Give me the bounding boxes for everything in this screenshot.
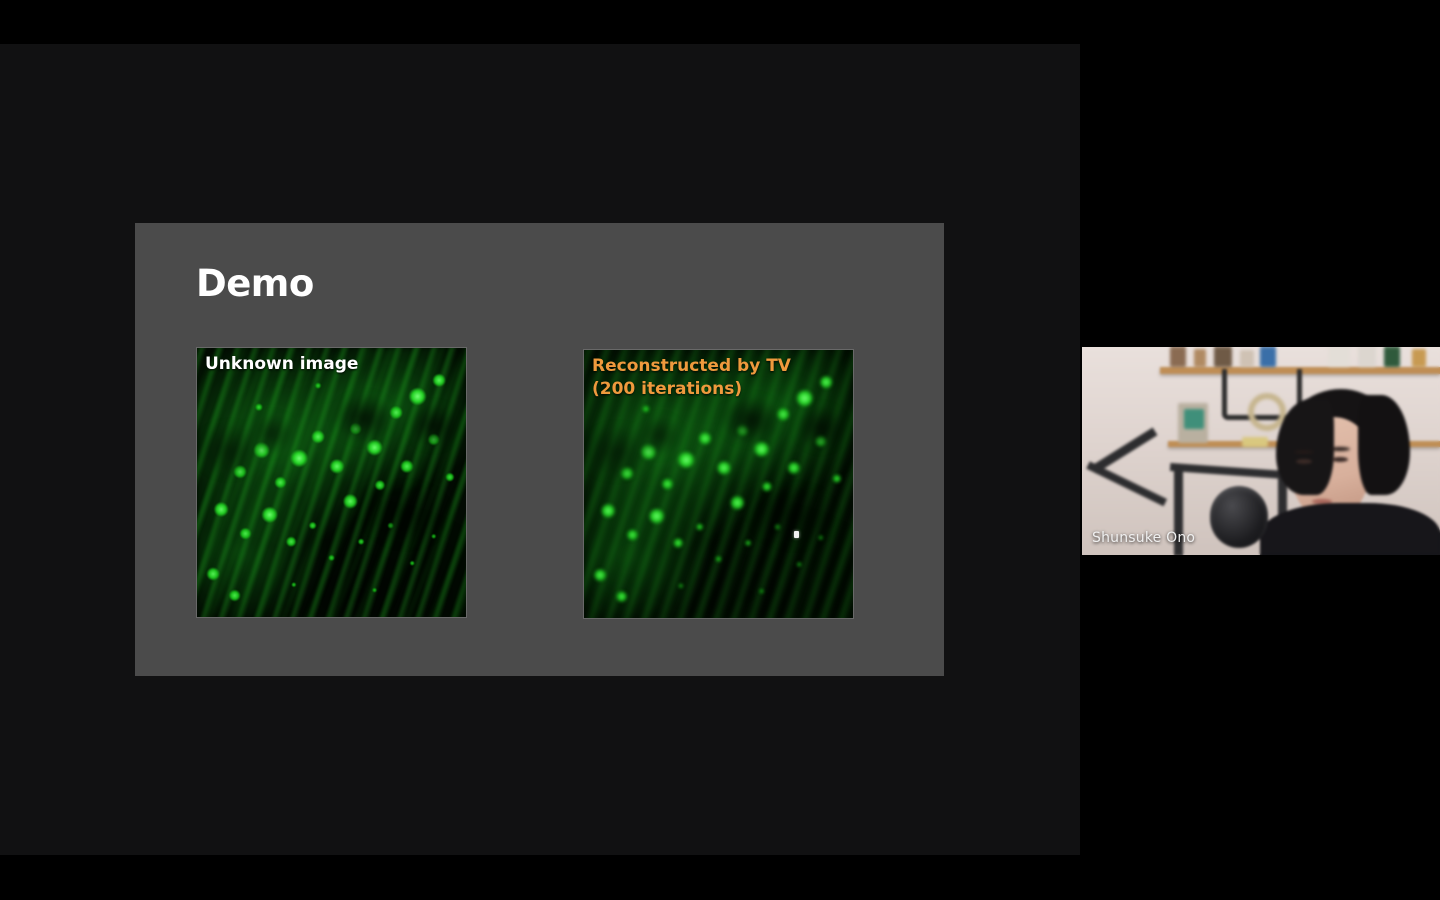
person-eye — [1296, 459, 1312, 464]
mouse-pointer-icon — [794, 531, 799, 538]
shelf-item — [1170, 347, 1186, 367]
page-title: Demo — [196, 265, 314, 302]
participant-video-tile[interactable]: Shunsuke Ono — [1082, 347, 1440, 555]
shelf-item — [1260, 347, 1276, 367]
participant-name-label: Shunsuke Ono — [1092, 530, 1195, 546]
figure-unknown-image: Unknown image — [197, 348, 466, 617]
person-torso — [1260, 503, 1440, 555]
person-eyebrow — [1330, 447, 1350, 451]
shelf-item — [1240, 350, 1254, 367]
shelf-item — [1328, 347, 1350, 367]
figure-label-reconstructed-tv: Reconstructed by TV (200 iterations) — [592, 355, 791, 400]
figure-label-unknown-image: Unknown image — [205, 353, 358, 376]
shelf-item — [1194, 349, 1206, 367]
shelf-item — [1242, 437, 1268, 447]
shelf-item — [1412, 349, 1426, 367]
dark-patch-layer — [197, 348, 466, 617]
figure-reconstructed-tv: Reconstructed by TV (200 iterations) — [584, 350, 853, 618]
shared-slide[interactable]: Demo Unknown image Reconstructed by TV (… — [135, 223, 944, 676]
screen: Demo Unknown image Reconstructed by TV (… — [0, 0, 1440, 900]
microscopy-image — [197, 348, 466, 617]
shelf-item — [1184, 409, 1204, 429]
shelf-item — [1384, 347, 1400, 367]
shelf-item — [1214, 347, 1232, 367]
person-eye — [1332, 457, 1348, 462]
microphone-icon — [1210, 486, 1268, 548]
shelf-item — [1358, 347, 1376, 367]
person-eyebrow — [1294, 450, 1314, 454]
